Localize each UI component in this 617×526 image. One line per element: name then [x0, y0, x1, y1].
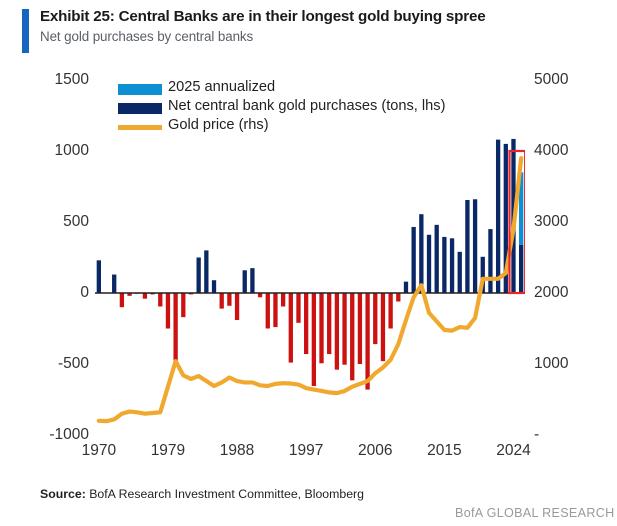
bar-1992 — [266, 293, 270, 329]
x-axis-tick: 2024 — [483, 443, 543, 459]
bar-2022 — [496, 140, 500, 293]
legend-item-1: Net central bank gold purchases (tons, l… — [118, 99, 518, 118]
bar-2011 — [412, 227, 416, 293]
legend-color-swatch — [118, 84, 162, 95]
y-axis-tick-left: -500 — [27, 356, 89, 372]
bar-1995 — [289, 293, 293, 363]
x-axis-tick: 1970 — [69, 443, 129, 459]
bar-2005 — [365, 293, 369, 390]
accent-bar — [22, 9, 29, 53]
page-title: Exhibit 25: Central Banks are in their l… — [40, 8, 485, 25]
y-axis-tick-left: 1500 — [27, 72, 89, 88]
bar-2019 — [473, 199, 477, 293]
bar-2004 — [358, 293, 362, 364]
legend-item-0: 2025 annualized — [118, 80, 518, 99]
bar-2012 — [419, 214, 423, 293]
legend-line-marker — [118, 125, 162, 130]
chart-header: Exhibit 25: Central Banks are in their l… — [22, 8, 602, 54]
y-axis-tick-right: 4000 — [534, 143, 568, 159]
bar-2009 — [396, 293, 400, 302]
bar-1983 — [197, 258, 201, 294]
bar-1986 — [220, 293, 224, 309]
bar-2002 — [342, 293, 346, 365]
bar-2008 — [388, 293, 392, 329]
bar-1996 — [296, 293, 300, 323]
bar-1973 — [120, 293, 124, 307]
bar-2001 — [335, 293, 339, 370]
x-axis-tick: 2015 — [414, 443, 474, 459]
bar-1970 — [97, 260, 101, 293]
bar-1993 — [273, 293, 277, 327]
legend-color-swatch — [118, 103, 162, 114]
bar-1985 — [212, 280, 216, 293]
chart-legend: 2025 annualizedNet central bank gold pur… — [118, 80, 518, 137]
bar-2010 — [404, 282, 408, 293]
chart-page: Exhibit 25: Central Banks are in their l… — [0, 0, 617, 526]
bar-2003 — [350, 293, 354, 380]
y-axis-tick-right: 2000 — [534, 285, 568, 301]
page-subtitle: Net gold purchases by central banks — [40, 29, 253, 44]
bar-1984 — [204, 250, 208, 293]
bar-2006 — [373, 293, 377, 344]
bar-1998 — [312, 293, 316, 386]
bar-1997 — [304, 293, 308, 354]
y-axis-tick-left: 0 — [27, 285, 89, 301]
x-axis-tick: 2006 — [345, 443, 405, 459]
bar-2021 — [488, 229, 492, 293]
y-axis-tick-right: 5000 — [534, 72, 568, 88]
bar-1978 — [158, 293, 162, 306]
y-axis-tick-right: 3000 — [534, 214, 568, 230]
bar-1976 — [143, 293, 147, 299]
bar-2015 — [442, 237, 446, 293]
brand-footer: BofA GLOBAL RESEARCH — [455, 506, 615, 520]
bar-1987 — [227, 293, 231, 306]
bar-2000 — [327, 293, 331, 354]
bar-2017 — [458, 252, 462, 293]
y-axis-tick-right: - — [534, 427, 539, 443]
source-text: BofA Research Investment Committee, Bloo… — [89, 487, 364, 501]
source-label: Source: — [40, 487, 86, 501]
bar-1989 — [243, 270, 247, 293]
bar-2007 — [381, 293, 385, 361]
bar-1972 — [112, 275, 116, 293]
bar-2018 — [465, 200, 469, 293]
legend-label: Net central bank gold purchases (tons, l… — [168, 98, 445, 114]
x-axis-tick: 1988 — [207, 443, 267, 459]
bar-1988 — [235, 293, 239, 320]
y-axis-tick-left: 500 — [27, 214, 89, 230]
y-axis-tick-right: 1000 — [534, 356, 568, 372]
bar-2014 — [435, 225, 439, 293]
source-note: Source: BofA Research Investment Committ… — [40, 487, 364, 501]
bar-1990 — [250, 268, 254, 293]
bar-2016 — [450, 238, 454, 293]
legend-label: Gold price (rhs) — [168, 117, 269, 133]
bar-1981 — [181, 293, 185, 317]
bar-2025-base — [519, 245, 523, 293]
x-axis-tick: 1997 — [276, 443, 336, 459]
bar-1999 — [319, 293, 323, 363]
bar-1979 — [166, 293, 170, 329]
bar-1980 — [173, 293, 177, 367]
bars-group — [97, 139, 524, 390]
y-axis-tick-left: 1000 — [27, 143, 89, 159]
y-axis-tick-left: -1000 — [27, 427, 89, 443]
legend-item-2: Gold price (rhs) — [118, 118, 518, 137]
bar-2013 — [427, 235, 431, 293]
legend-label: 2025 annualized — [168, 79, 275, 95]
x-axis-tick: 1979 — [138, 443, 198, 459]
bar-1994 — [281, 293, 285, 306]
